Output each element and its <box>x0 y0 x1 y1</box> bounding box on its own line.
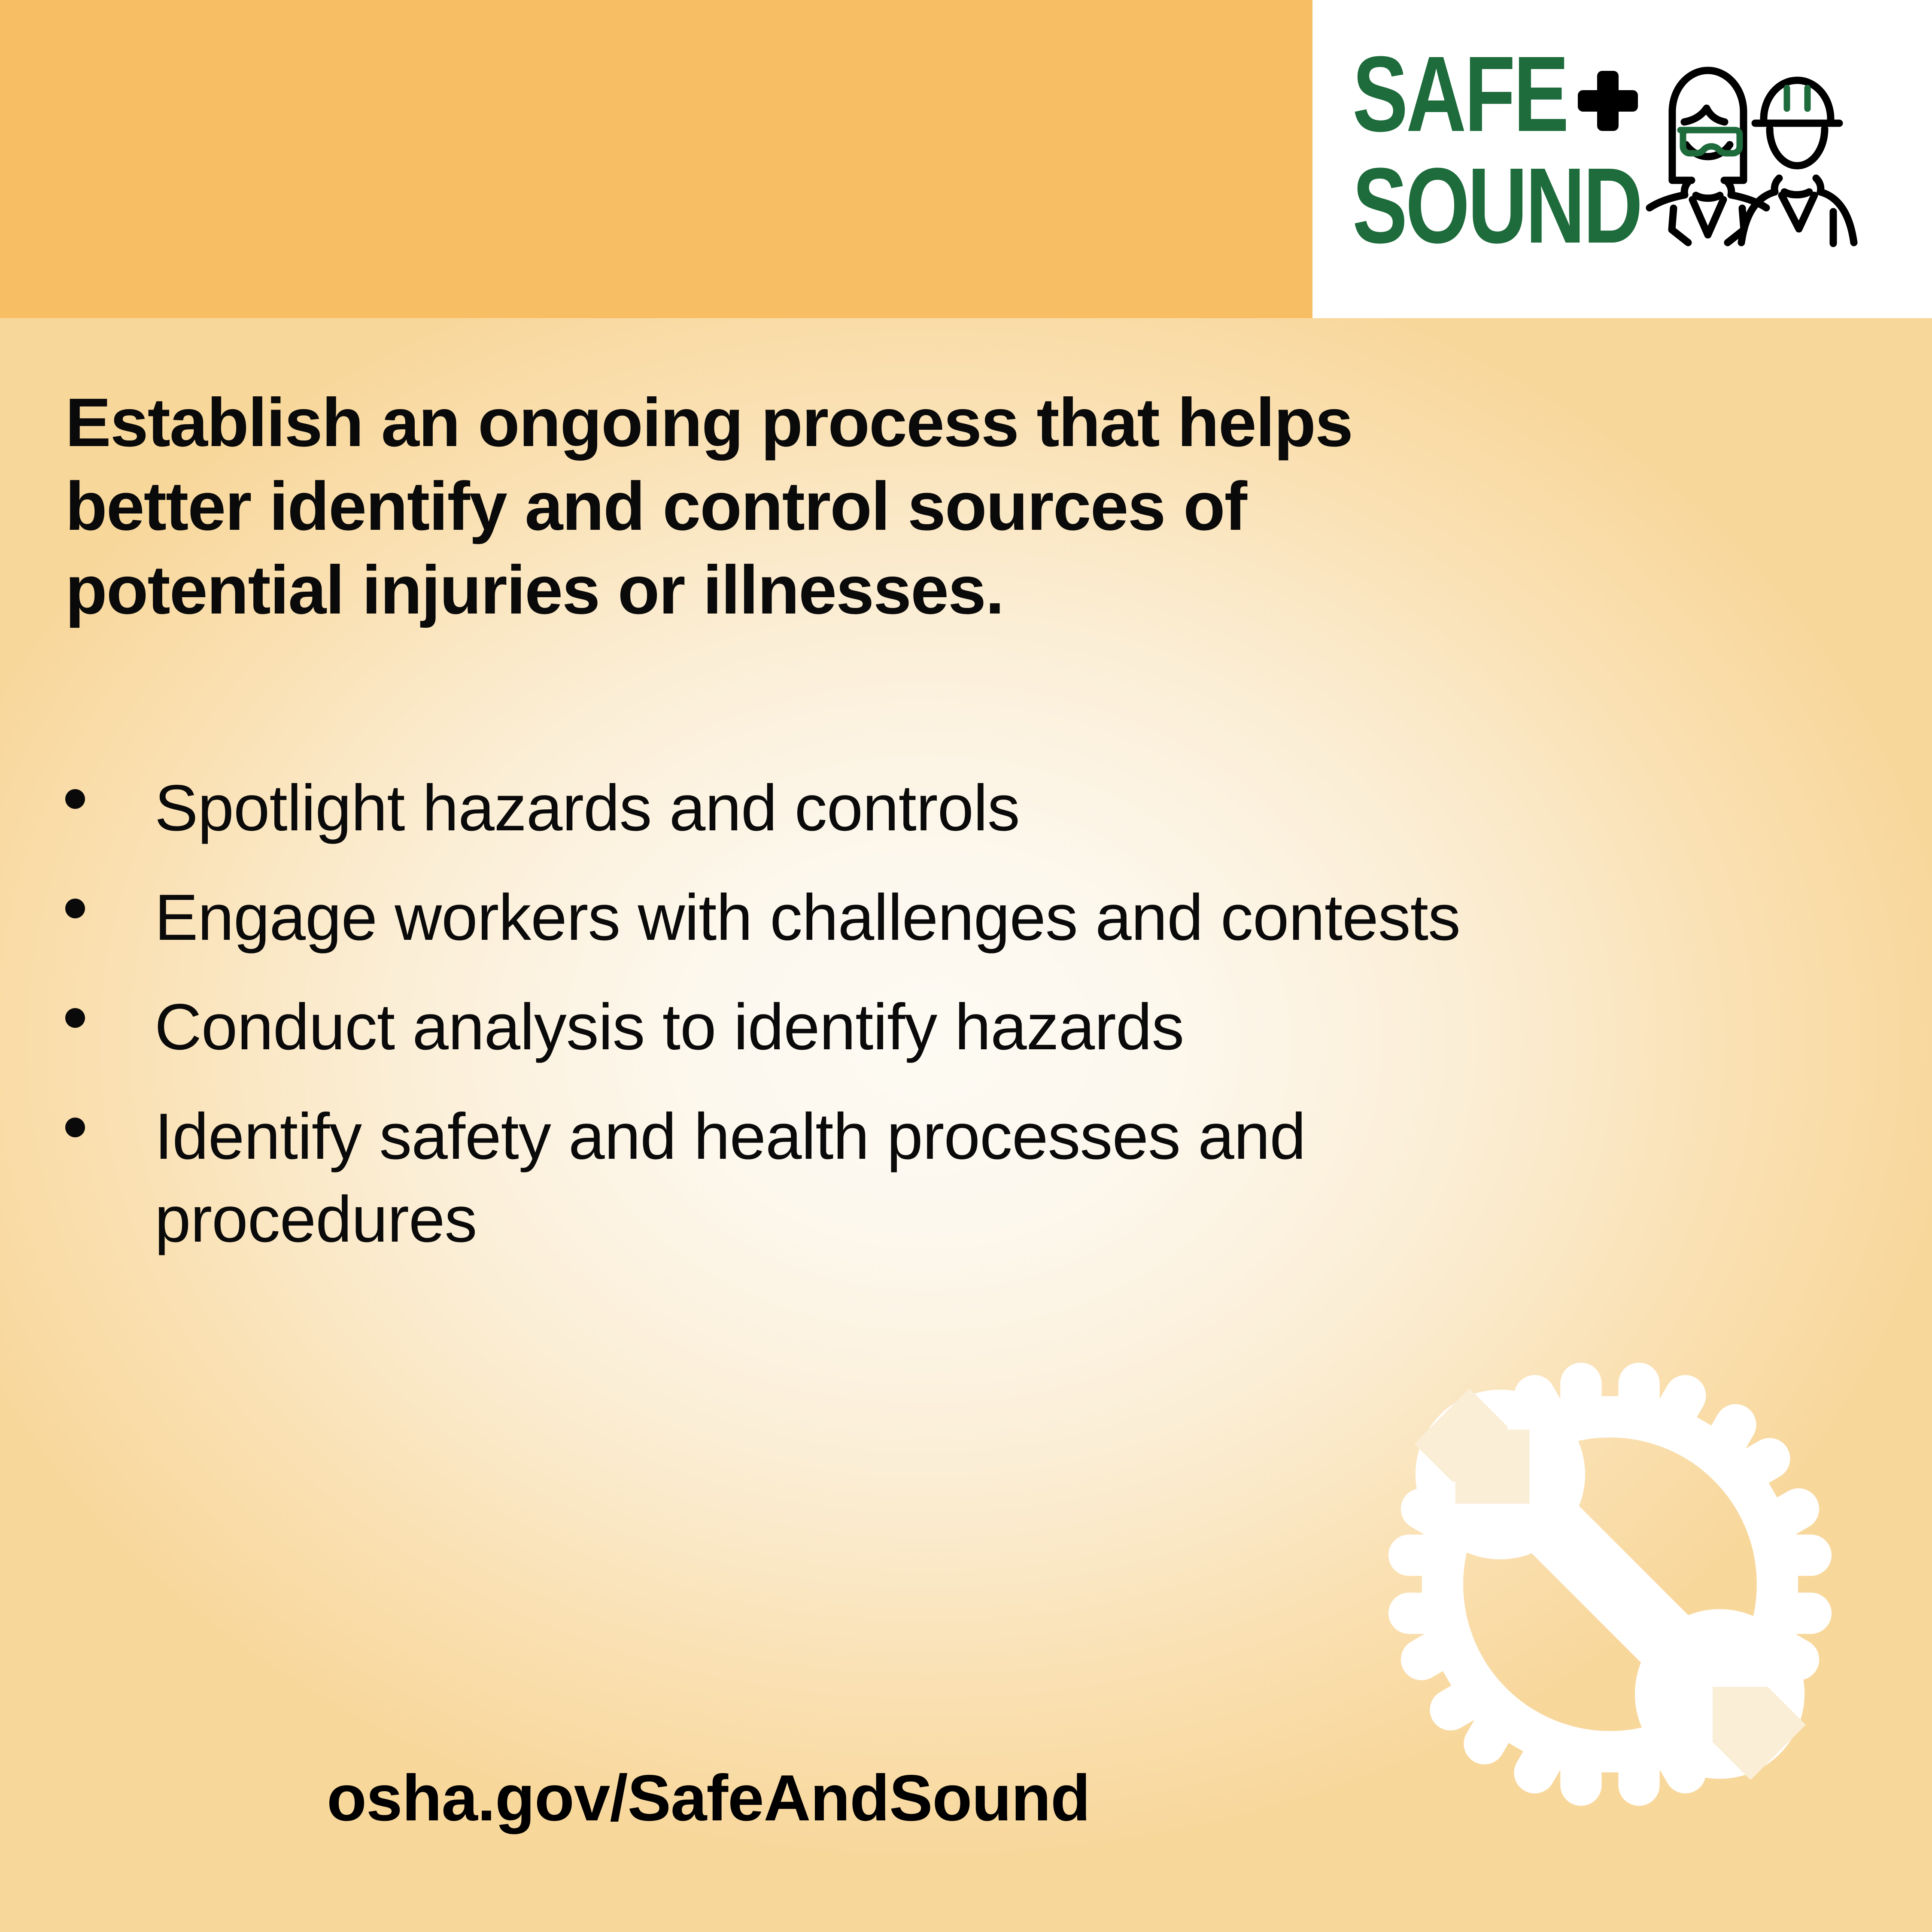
bullet-dot-icon <box>65 899 85 918</box>
plus-icon <box>1578 71 1638 131</box>
bullet-dot-icon <box>65 1118 85 1137</box>
subtitle-line-2: better identify and control sources of <box>65 464 1697 548</box>
bullet-list: Spotlight hazards and controls Engage wo… <box>56 767 1601 1288</box>
header-band <box>0 0 1312 318</box>
footer-url[interactable]: osha.gov/SafeAndSound <box>0 1761 1417 1836</box>
list-item-label: Spotlight hazards and controls <box>155 767 1464 850</box>
subtitle: Establish an ongoing process that helps … <box>65 380 1697 632</box>
worker-hardhat-icon <box>1741 80 1854 243</box>
bullet-dot-icon <box>65 789 85 809</box>
poster-canvas: Find and Fix Hazards SAFE SOUND <box>0 0 1932 1932</box>
subtitle-line-1: Establish an ongoing process that helps <box>65 380 1697 464</box>
list-item: Conduct analysis to identify hazards <box>56 986 1601 1069</box>
list-item: Identify safety and health processes and… <box>56 1095 1601 1261</box>
list-item: Engage workers with challenges and conte… <box>56 876 1601 959</box>
list-item-label: Conduct analysis to identify hazards <box>155 986 1464 1069</box>
content-area: Establish an ongoing process that helps … <box>0 318 1932 1932</box>
logo-text-safe: SAFE <box>1352 34 1567 154</box>
list-item-label: Identify safety and health processes and… <box>155 1095 1464 1261</box>
logo-text-sound: SOUND <box>1352 146 1641 265</box>
safe-and-sound-logo: SAFE SOUND <box>1352 24 1911 281</box>
subtitle-line-3: potential injuries or illnesses. <box>65 548 1697 632</box>
bullet-dot-icon <box>65 1008 85 1028</box>
list-item-label: Engage workers with challenges and conte… <box>155 876 1464 959</box>
list-item: Spotlight hazards and controls <box>56 767 1601 850</box>
